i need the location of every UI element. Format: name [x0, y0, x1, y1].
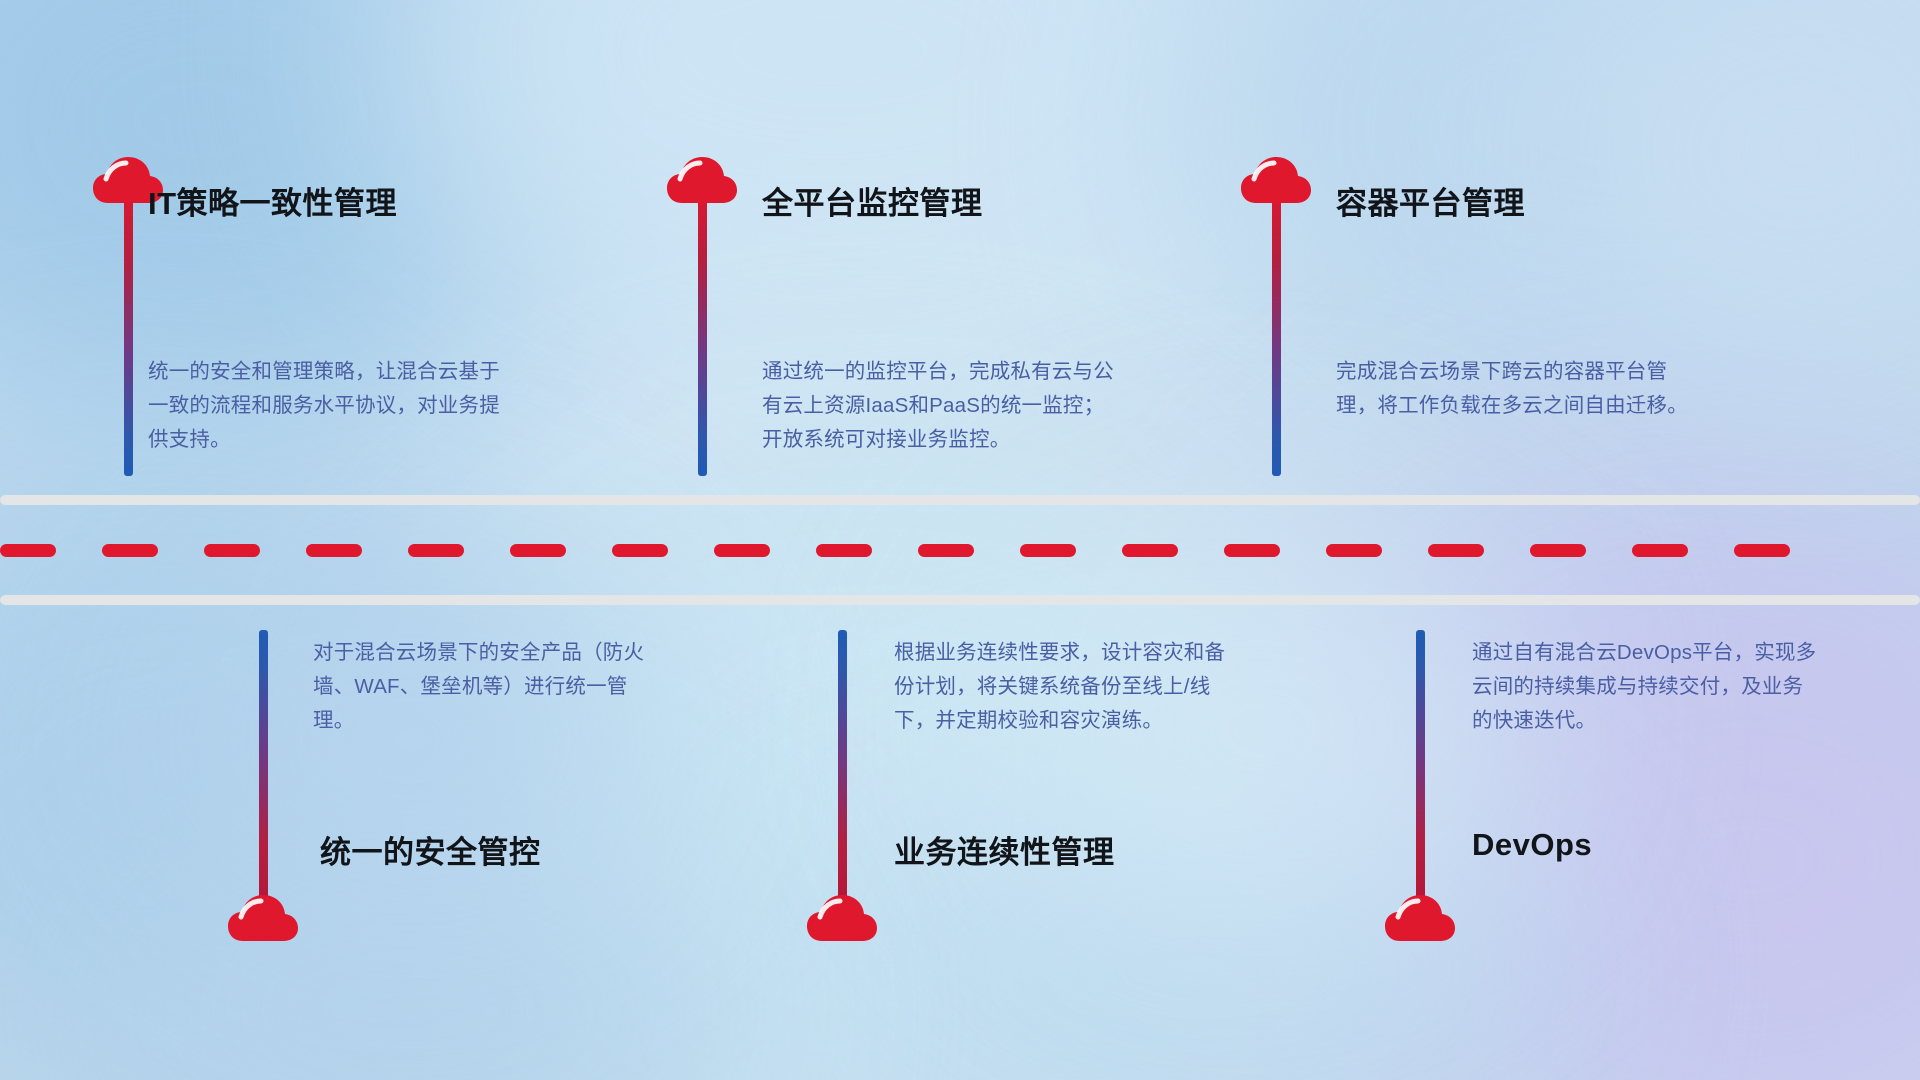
divider-dash — [1530, 544, 1586, 557]
pin-stem-bottom-2 — [838, 630, 847, 905]
divider-dash — [408, 544, 464, 557]
pin-stem-bottom-3 — [1416, 630, 1425, 905]
divider-dash — [0, 544, 56, 557]
cloud-icon — [666, 155, 738, 207]
divider-dash — [816, 544, 872, 557]
infographic-canvas: IT策略一致性管理 统一的安全和管理策略，让混合云基于一致的流程和服务水平协议，… — [0, 0, 1920, 1080]
divider-line-top — [0, 495, 1920, 505]
divider-line-bottom — [0, 595, 1920, 605]
card-title-bottom-3: DevOps — [1472, 827, 1592, 863]
card-body-bottom-2: 根据业务连续性要求，设计容灾和备份计划，将关键系统备份至线上/线下，并定期校验和… — [894, 636, 1239, 738]
card-title-top-3: 容器平台管理 — [1336, 178, 1525, 223]
divider-dash — [612, 544, 668, 557]
card-title-top-1: IT策略一致性管理 — [148, 178, 397, 223]
pin-stem-bottom-1 — [259, 630, 268, 905]
card-title-bottom-1: 统一的安全管控 — [320, 827, 541, 872]
card-body-bottom-3: 通过自有混合云DevOps平台，实现多云间的持续集成与持续交付，及业务的快速迭代… — [1472, 636, 1817, 738]
pin-stem-top-2 — [698, 186, 707, 476]
divider-dash — [1428, 544, 1484, 557]
card-title-bottom-2: 业务连续性管理 — [894, 827, 1115, 872]
divider-dash — [1734, 544, 1790, 557]
divider-dash — [102, 544, 158, 557]
cloud-icon — [227, 893, 299, 945]
divider-dash — [714, 544, 770, 557]
pin-stem-top-3 — [1272, 186, 1281, 476]
divider-dash — [918, 544, 974, 557]
card-title-top-2: 全平台监控管理 — [762, 178, 983, 223]
card-body-bottom-1: 对于混合云场景下的安全产品（防火墙、WAF、堡垒机等）进行统一管理。 — [313, 636, 658, 738]
divider-dash — [1122, 544, 1178, 557]
card-body-top-1: 统一的安全和管理策略，让混合云基于一致的流程和服务水平协议，对业务提供支持。 — [148, 355, 508, 457]
card-body-top-3: 完成混合云场景下跨云的容器平台管理，将工作负载在多云之间自由迁移。 — [1336, 355, 1696, 423]
divider-dashed-center-line — [0, 544, 1920, 557]
divider-dash — [204, 544, 260, 557]
divider-dash — [306, 544, 362, 557]
cloud-icon — [1240, 155, 1312, 207]
divider-dash — [1632, 544, 1688, 557]
divider-dash — [1326, 544, 1382, 557]
cloud-icon — [806, 893, 878, 945]
divider-dash — [1224, 544, 1280, 557]
pin-stem-top-1 — [124, 186, 133, 476]
cloud-icon — [1384, 893, 1456, 945]
card-body-top-2: 通过统一的监控平台，完成私有云与公有云上资源IaaS和PaaS的统一监控；开放系… — [762, 355, 1122, 457]
divider-dash — [1020, 544, 1076, 557]
divider-dash — [510, 544, 566, 557]
